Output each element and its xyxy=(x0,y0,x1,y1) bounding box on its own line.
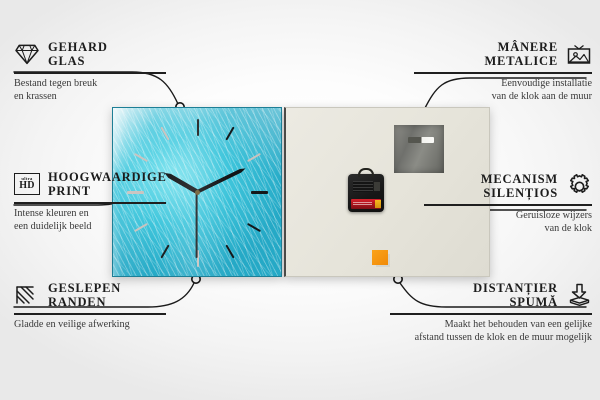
clock-minute-hand xyxy=(196,167,246,194)
diamond-icon xyxy=(14,41,40,67)
clock-tick-10 xyxy=(134,153,148,162)
metal-hanger-plate xyxy=(394,125,444,173)
feature-divider xyxy=(14,72,166,73)
clock-tick-2 xyxy=(247,153,261,162)
clock-tick-11 xyxy=(160,127,169,141)
feature-header: GESLEPEN RANDEN xyxy=(14,281,194,309)
feature-divider xyxy=(390,313,592,314)
feature-gehard-glas: GEHARD GLAS Bestand tegen breuk en krass… xyxy=(14,40,194,104)
feature-description: Gladde en veilige afwerking xyxy=(14,318,194,332)
feature-description: Maakt het behouden van een gelijke afsta… xyxy=(382,318,592,345)
feature-header: DISTANȚIER SPUMĂ xyxy=(382,281,592,309)
ultra-hd-large-text: HD xyxy=(19,181,34,191)
feature-mecanism-silentios: MECANISM SILENȚIOS Geruisloze wijzers va… xyxy=(410,172,592,236)
ultra-hd-icon: ultra HD xyxy=(14,171,40,197)
feature-header: GEHARD GLAS xyxy=(14,40,194,68)
mechanism-vent xyxy=(353,181,373,192)
wall-mount-frame-icon xyxy=(566,41,592,67)
feature-title: MECANISM SILENȚIOS xyxy=(481,172,558,200)
clock-second-hand xyxy=(196,192,198,258)
feature-title: GESLEPEN RANDEN xyxy=(48,281,121,309)
feature-description: Eenvoudige installatie van de klok aan d… xyxy=(400,77,592,104)
battery-terminal xyxy=(375,200,381,208)
foam-spacer-pad xyxy=(372,250,388,265)
feature-divider xyxy=(414,72,592,73)
clock-center-cap xyxy=(195,190,200,195)
feature-title: MÂNERE METALICE xyxy=(484,40,558,68)
feature-divider xyxy=(14,313,166,314)
foam-spacer-arrow-icon xyxy=(566,282,592,308)
feature-divider xyxy=(14,202,166,203)
clock-tick-12 xyxy=(197,119,199,136)
aa-battery xyxy=(351,199,381,209)
hanger-slot xyxy=(408,137,434,143)
feature-description: Geruisloze wijzers van de klok xyxy=(410,209,592,236)
clock-tick-6 xyxy=(197,250,199,267)
feature-title: HOOGWAARDIGE PRINT xyxy=(48,170,167,198)
feature-manere-metalice: MÂNERE METALICE Eenvoudige installatie v… xyxy=(400,40,592,104)
feature-geslepen-randen: GESLEPEN RANDEN Gladde en veilige afwerk… xyxy=(14,281,194,331)
infographic-canvas: GEHARD GLAS Bestand tegen breuk en krass… xyxy=(0,0,600,400)
gear-icon xyxy=(566,173,592,199)
clock-tick-7 xyxy=(160,245,169,259)
hanger-loop xyxy=(358,168,374,177)
feature-title: DISTANȚIER SPUMĂ xyxy=(473,281,558,309)
beveled-edges-icon xyxy=(14,282,40,308)
feature-divider xyxy=(424,204,592,205)
battery-label xyxy=(353,202,372,206)
feature-header: MÂNERE METALICE xyxy=(400,40,592,68)
feature-distantier-spuma: DISTANȚIER SPUMĂ Maakt het behouden van … xyxy=(382,281,592,345)
feature-description: Intense kleuren en een duidelijk beeld xyxy=(14,207,194,234)
feature-header: ultra HD HOOGWAARDIGE PRINT xyxy=(14,170,194,198)
clock-mechanism-box xyxy=(348,174,384,212)
feature-description: Bestand tegen breuk en krassen xyxy=(14,77,194,104)
clock-tick-1 xyxy=(225,127,234,141)
clock-tick-4 xyxy=(247,223,261,232)
feature-hoogwaardige-print: ultra HD HOOGWAARDIGE PRINT Intense kleu… xyxy=(14,170,194,234)
clock-tick-3 xyxy=(251,191,268,194)
clock-tick-5 xyxy=(225,245,234,259)
feature-title: GEHARD GLAS xyxy=(48,40,108,68)
mechanism-chip xyxy=(374,182,380,191)
feature-header: MECANISM SILENȚIOS xyxy=(410,172,592,200)
